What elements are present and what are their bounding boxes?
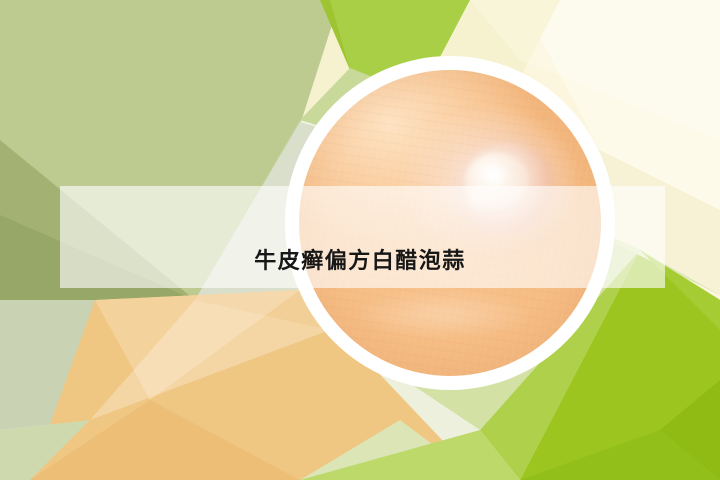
page-title: 牛皮癣偏方白醋泡蒜 <box>0 186 720 288</box>
poster-stage: 牛皮癣偏方白醋泡蒜 <box>0 0 720 480</box>
lesion-flake-a <box>480 165 510 186</box>
skin-crease <box>353 290 534 339</box>
